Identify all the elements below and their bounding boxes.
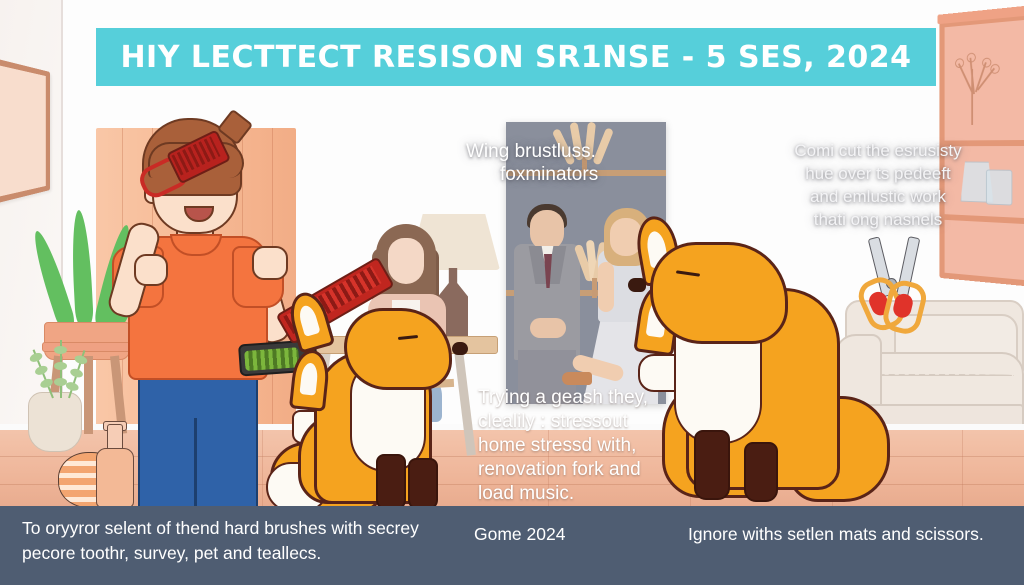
overlay-right-top-line1: Comi cut the esrusisty [758, 140, 998, 163]
small-plant-pot [28, 392, 82, 452]
fox-sitting-right [638, 216, 878, 512]
overlay-right-top-line4: thati ong nasnels [758, 209, 998, 232]
fox-sitting-left [292, 292, 482, 510]
overlay-middle-top-line2: foxminators [500, 163, 678, 186]
overlay-right-top-line2: hue over ts pedeeft [758, 163, 998, 186]
overlay-middle-lower-line1: Trying a geash they, [478, 386, 664, 410]
title-banner: HIY LECTTECT RESISON SR1NSE - 5 SES, 202… [96, 28, 936, 86]
caption-left: To oryyror selent of thend hard brushes … [22, 516, 422, 567]
overlay-middle-lower: Trying a geash they, clealily : stressou… [478, 386, 664, 506]
overlay-middle-lower-line3: home stressd with, [478, 434, 664, 458]
picture-frame-mat [0, 65, 46, 196]
title-text: HIY LECTTECT RESISON SR1NSE - 5 SES, 202… [120, 40, 911, 75]
overlay-middle-top-line1: Wing brustluss. [466, 141, 596, 162]
overlay-right-top: Comi cut the esrusisty hue over ts pedee… [758, 140, 998, 232]
overlay-middle-lower-line2: clealily : stressout [478, 410, 664, 434]
overlay-right-top-line3: and emlustic work [758, 186, 998, 209]
overlay-middle-lower-line4: renovation fork and [478, 458, 664, 482]
overlay-middle-top: Wing brustluss. foxminators [466, 140, 678, 186]
caption-middle: Gome 2024 [474, 522, 644, 547]
caption-right: Ignore withs setlen mats and scissors. [688, 522, 1008, 547]
illustration-canvas: HIY LECTTECT RESISON SR1NSE - 5 SES, 202… [0, 0, 1024, 585]
overlay-middle-lower-line5: load music. [478, 482, 664, 506]
picture-frame [0, 58, 50, 205]
